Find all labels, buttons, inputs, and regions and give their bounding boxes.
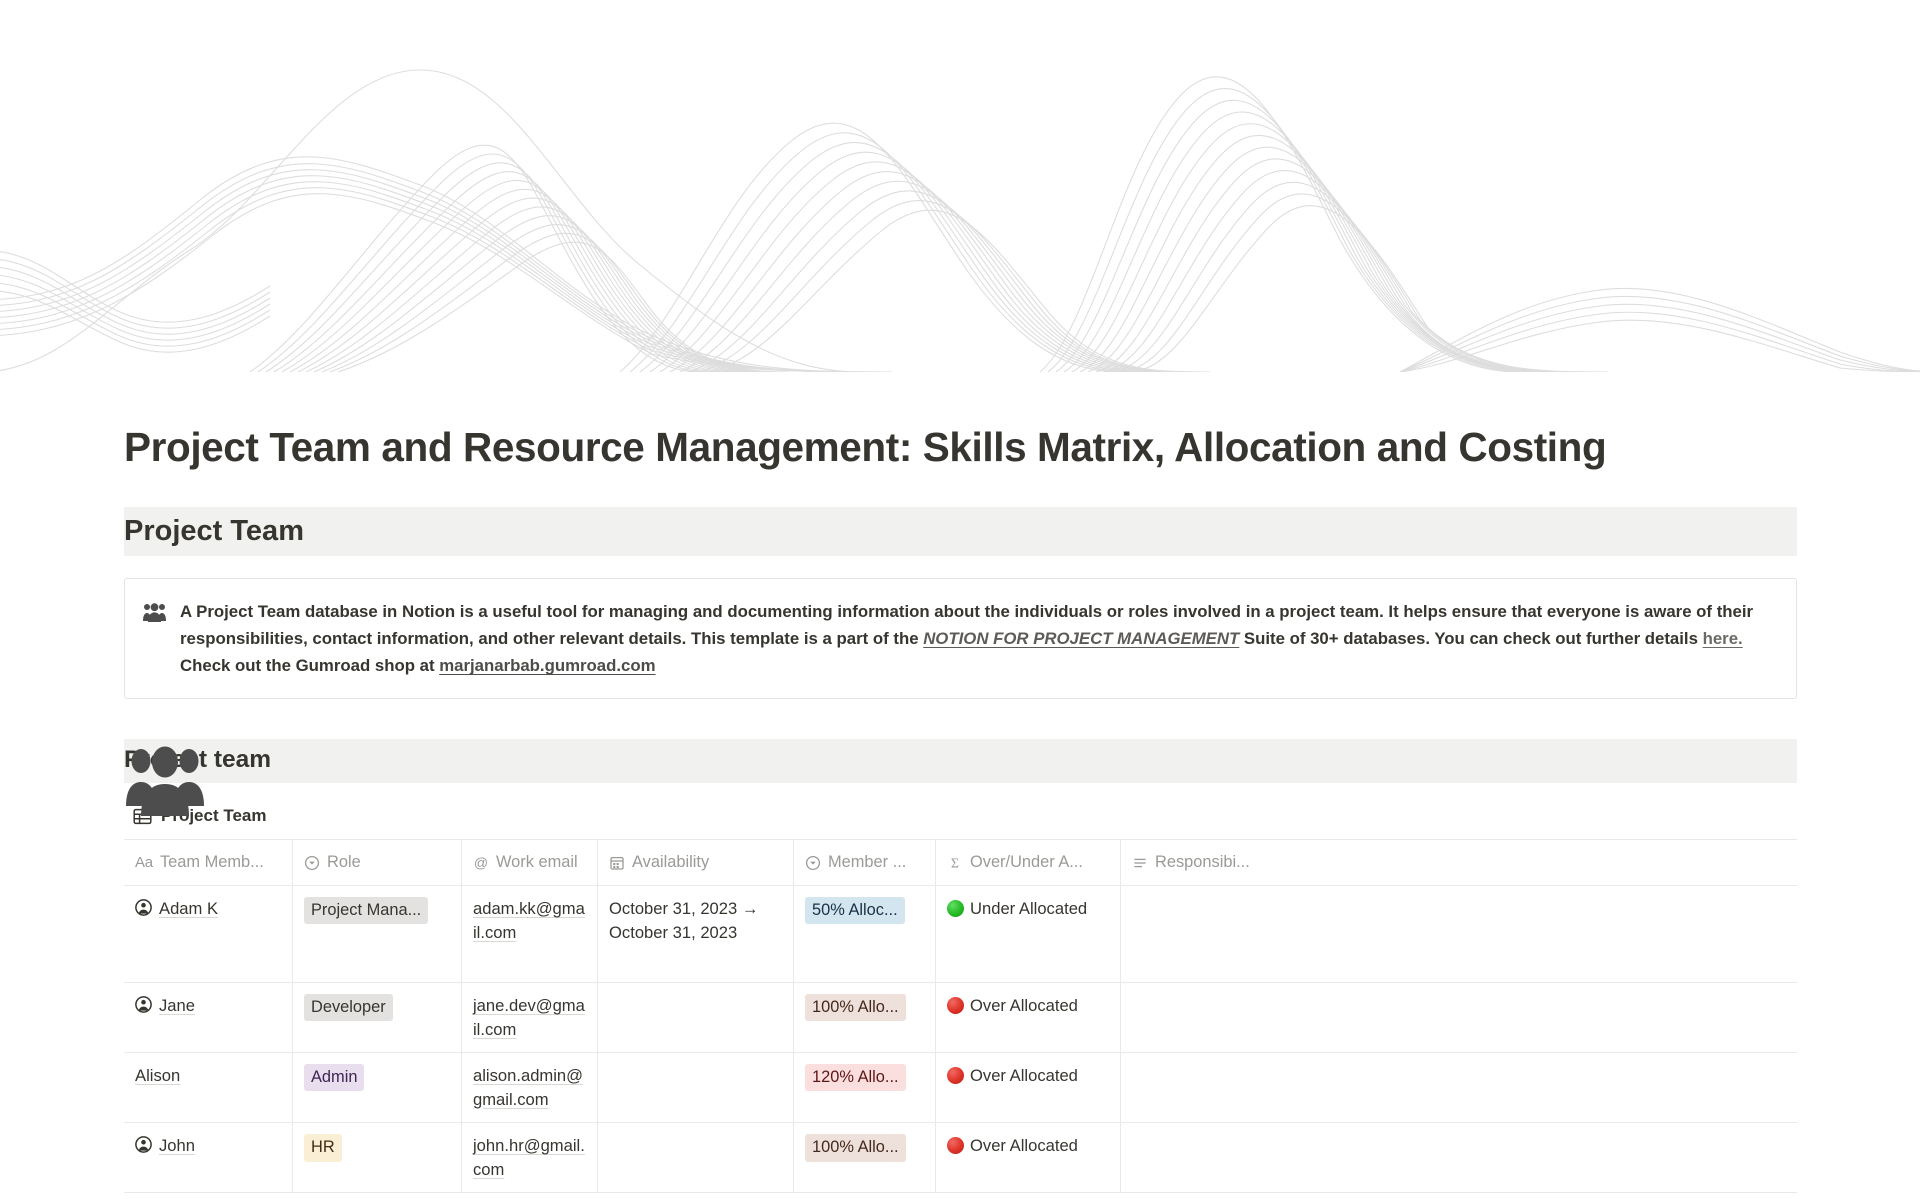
table-row[interactable]: Alison Admin alison.admin@gmail.com 120%… bbox=[124, 1053, 1797, 1123]
role-pill: Project Mana... bbox=[304, 897, 428, 924]
page-icon[interactable] bbox=[124, 744, 206, 816]
cell-work-email[interactable]: alison.admin@gmail.com bbox=[462, 1053, 598, 1122]
cell-responsibilities[interactable] bbox=[1121, 1053, 1797, 1122]
work-email: jane.dev@gmail.com bbox=[473, 996, 585, 1039]
cell-member-allocation[interactable]: 100% Allo... bbox=[794, 1123, 936, 1192]
column-header-member-allocation[interactable]: Member ... bbox=[794, 840, 936, 885]
cell-member-allocation[interactable]: 50% Alloc... bbox=[794, 886, 936, 982]
cell-role[interactable]: HR bbox=[293, 1123, 462, 1192]
callout-text-part-2: Suite of 30+ databases. You can check ou… bbox=[1239, 629, 1702, 648]
database-title[interactable]: Project Team bbox=[124, 802, 1797, 839]
status-label: Over Allocated bbox=[970, 1064, 1078, 1088]
status-label: Over Allocated bbox=[970, 994, 1078, 1018]
callout-text-part-3: Check out the Gumroad shop at bbox=[180, 656, 439, 675]
cell-work-email[interactable]: adam.kk@gmail.com bbox=[462, 886, 598, 982]
email-at-icon-glyph: @ bbox=[473, 855, 489, 871]
status-dot-red bbox=[947, 997, 964, 1014]
role-pill: Developer bbox=[304, 994, 393, 1021]
section-heading-project-team: Project Team bbox=[124, 507, 1797, 556]
avatar bbox=[135, 1134, 152, 1153]
cell-team-member[interactable]: Adam K bbox=[124, 886, 293, 982]
column-header-label: Member ... bbox=[828, 853, 906, 872]
avatar bbox=[135, 994, 152, 1013]
status-dot-green bbox=[947, 900, 964, 917]
cell-role[interactable]: Admin bbox=[293, 1053, 462, 1122]
cell-work-email[interactable]: jane.dev@gmail.com bbox=[462, 983, 598, 1052]
status-label: Over Allocated bbox=[970, 1134, 1078, 1158]
cell-over-under-allocation[interactable]: Over Allocated bbox=[936, 1053, 1121, 1122]
status-label: Under Allocated bbox=[970, 897, 1087, 921]
table-header-row: Aa Team Memb... Role @ bbox=[124, 840, 1797, 886]
multiline-text-icon bbox=[1132, 855, 1148, 871]
role-pill: HR bbox=[304, 1134, 342, 1161]
person-avatar-icon bbox=[135, 996, 152, 1013]
cell-responsibilities[interactable] bbox=[1121, 1123, 1797, 1192]
column-header-label: Availability bbox=[632, 853, 709, 872]
cell-availability[interactable] bbox=[598, 983, 794, 1052]
allocation-pill: 100% Allo... bbox=[805, 994, 906, 1021]
cell-availability[interactable] bbox=[598, 1053, 794, 1122]
role-pill: Admin bbox=[304, 1064, 364, 1091]
allocation-pill: 100% Allo... bbox=[805, 1134, 906, 1161]
column-header-role[interactable]: Role bbox=[293, 840, 462, 885]
page-cover bbox=[0, 0, 1920, 372]
column-header-label: Work email bbox=[496, 853, 578, 872]
cell-over-under-allocation[interactable]: Under Allocated bbox=[936, 886, 1121, 982]
cell-work-email[interactable]: john.hr@gmail.com bbox=[462, 1123, 598, 1192]
column-header-label: Over/Under A... bbox=[970, 853, 1083, 872]
cell-team-member[interactable]: Alison bbox=[124, 1053, 293, 1122]
work-email: adam.kk@gmail.com bbox=[473, 899, 585, 942]
info-callout: A Project Team database in Notion is a u… bbox=[124, 578, 1797, 700]
select-icon bbox=[805, 855, 821, 871]
people-group-icon bbox=[124, 744, 206, 816]
person-avatar-icon bbox=[135, 1136, 152, 1153]
table-row[interactable]: Adam K Project Mana... adam.kk@gmail.com… bbox=[124, 886, 1797, 983]
text-aa-icon: Aa bbox=[135, 854, 153, 871]
cell-responsibilities[interactable] bbox=[1121, 886, 1797, 982]
member-name: Adam K bbox=[159, 897, 218, 921]
cell-responsibilities[interactable] bbox=[1121, 983, 1797, 1052]
column-header-availability[interactable]: Availability bbox=[598, 840, 794, 885]
cell-role[interactable]: Developer bbox=[293, 983, 462, 1052]
people-group-icon bbox=[143, 598, 166, 622]
project-team-table: Aa Team Memb... Role @ bbox=[124, 839, 1797, 1193]
select-icon-glyph bbox=[805, 855, 821, 871]
column-header-team-member[interactable]: Aa Team Memb... bbox=[124, 840, 293, 885]
date-calendar-icon-glyph bbox=[609, 855, 625, 871]
cell-availability[interactable] bbox=[598, 1123, 794, 1192]
column-header-over-under-allocation[interactable]: Σ Over/Under A... bbox=[936, 840, 1121, 885]
link-gumroad-shop[interactable]: marjanarbab.gumroad.com bbox=[439, 656, 655, 675]
status-dot-red bbox=[947, 1137, 964, 1154]
link-here[interactable]: here. bbox=[1703, 629, 1743, 648]
formula-sigma-icon: Σ bbox=[947, 855, 963, 871]
work-email: john.hr@gmail.com bbox=[473, 1136, 585, 1179]
cell-member-allocation[interactable]: 120% Allo... bbox=[794, 1053, 936, 1122]
section-heading-project-team-db: Project team bbox=[124, 739, 1797, 783]
allocation-pill: 50% Alloc... bbox=[805, 897, 905, 924]
cell-role[interactable]: Project Mana... bbox=[293, 886, 462, 982]
cell-over-under-allocation[interactable]: Over Allocated bbox=[936, 983, 1121, 1052]
select-icon bbox=[304, 855, 320, 871]
multiline-text-icon-glyph bbox=[1132, 855, 1148, 871]
table-row[interactable]: Jane Developer jane.dev@gmail.com 100% A… bbox=[124, 983, 1797, 1053]
formula-sigma-icon-glyph: Σ bbox=[947, 855, 963, 871]
column-header-label: Team Memb... bbox=[160, 853, 264, 872]
callout-text: A Project Team database in Notion is a u… bbox=[180, 598, 1776, 680]
member-name: Alison bbox=[135, 1064, 180, 1088]
avatar bbox=[135, 897, 152, 916]
svg-text:Σ: Σ bbox=[951, 856, 959, 870]
member-name: John bbox=[159, 1134, 195, 1158]
member-name: Jane bbox=[159, 994, 195, 1018]
cell-team-member[interactable]: John bbox=[124, 1123, 293, 1192]
select-icon-glyph bbox=[304, 855, 320, 871]
work-email: alison.admin@gmail.com bbox=[473, 1066, 583, 1109]
person-avatar-icon bbox=[135, 899, 152, 916]
status-dot-red bbox=[947, 1067, 964, 1084]
page-title: Project Team and Resource Management: Sk… bbox=[124, 424, 1797, 471]
date-calendar-icon bbox=[609, 855, 625, 871]
people-group-icon-glyph bbox=[143, 602, 166, 622]
svg-text:@: @ bbox=[474, 855, 488, 870]
column-header-responsibilities[interactable]: Responsibi... bbox=[1121, 840, 1797, 885]
email-at-icon: @ bbox=[473, 855, 489, 871]
cell-over-under-allocation[interactable]: Over Allocated bbox=[936, 1123, 1121, 1192]
link-notion-for-project-management[interactable]: NOTION FOR PROJECT MANAGEMENT bbox=[923, 629, 1239, 648]
table-row[interactable]: John HR john.hr@gmail.com 100% Allo... O… bbox=[124, 1123, 1797, 1192]
wave-lines-pattern bbox=[0, 0, 1920, 372]
column-header-label: Responsibi... bbox=[1155, 853, 1250, 872]
column-header-label: Role bbox=[327, 853, 361, 872]
cell-team-member[interactable]: Jane bbox=[124, 983, 293, 1052]
cell-availability[interactable]: October 31, 2023 → October 31, 2023 bbox=[598, 886, 794, 982]
allocation-pill: 120% Allo... bbox=[805, 1064, 906, 1091]
column-header-work-email[interactable]: @ Work email bbox=[462, 840, 598, 885]
cell-member-allocation[interactable]: 100% Allo... bbox=[794, 983, 936, 1052]
